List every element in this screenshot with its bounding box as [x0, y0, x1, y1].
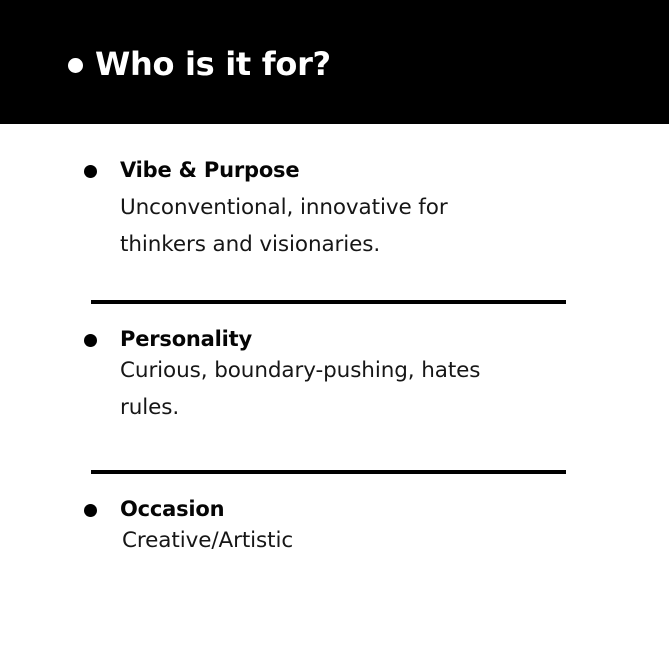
section-heading-row: Occasion: [0, 497, 669, 521]
section-title-vibe-purpose: Vibe & Purpose: [120, 158, 299, 182]
section-body-vibe-purpose: Unconventional, innovative for thinkers …: [120, 190, 540, 264]
section-heading-row: Personality: [0, 327, 669, 351]
page-title: Who is it for?: [95, 48, 331, 80]
bullet-dot-icon: [68, 58, 83, 73]
header-band: Who is it for?: [0, 0, 669, 124]
header-content: Who is it for?: [68, 48, 331, 80]
section-title-occasion: Occasion: [120, 497, 224, 521]
section-personality: Personality Curious, boundary-pushing, h…: [0, 304, 669, 427]
section-vibe-purpose: Vibe & Purpose Unconventional, innovativ…: [0, 124, 669, 264]
bullet-dot-icon: [84, 165, 97, 178]
content-area: Vibe & Purpose Unconventional, innovativ…: [0, 124, 669, 560]
section-occasion: Occasion Creative/Artistic: [0, 474, 669, 560]
section-title-personality: Personality: [120, 327, 252, 351]
section-body-personality: Curious, boundary-pushing, hates rules.: [120, 353, 540, 427]
bullet-dot-icon: [84, 504, 97, 517]
bullet-dot-icon: [84, 334, 97, 347]
slide-root: Who is it for? Vibe & Purpose Unconventi…: [0, 0, 669, 669]
section-body-occasion: Creative/Artistic: [122, 523, 542, 560]
section-heading-row: Vibe & Purpose: [0, 158, 669, 182]
